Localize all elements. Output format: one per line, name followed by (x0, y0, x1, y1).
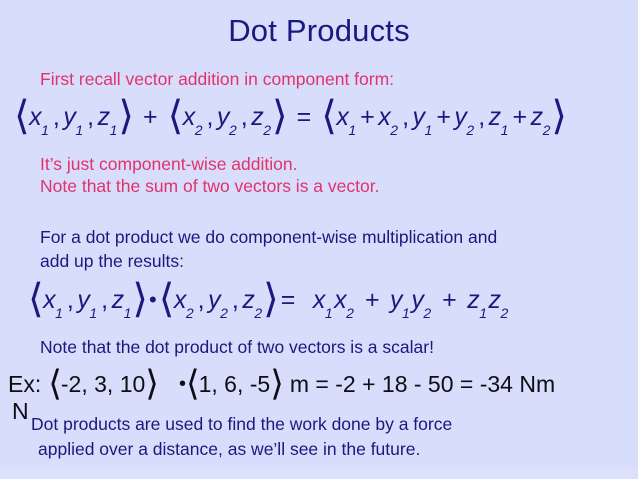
eq1-res-y2-sub: 2 (466, 122, 474, 138)
note-component-wise-addition: It’s just component-wise addition. (40, 153, 297, 175)
angle-open-icon: ⟨ (14, 94, 29, 138)
angle-open-icon: ⟨ (159, 277, 174, 321)
eq2-mid-x: x (173, 286, 187, 314)
eq2-comma-d: , (229, 286, 242, 314)
eq1-comma-c: , (204, 103, 217, 131)
vector-addition-equation: ⟨x1,y1,z1⟩+⟨x2,y2,z2⟩=⟨x1+x2,y1+y2,z1+z2… (14, 102, 566, 132)
angle-close-icon: ⟩ (118, 94, 133, 138)
example-calculation: Ex:⟨-2, 3, 10⟩•⟨1, 6, -5⟩m = -2 + 18 - 5… (8, 370, 555, 400)
note-dot-product-is-scalar: Note that the dot product of two vectors… (40, 336, 434, 359)
angle-close-icon: ⟩ (263, 277, 278, 321)
eq1-res-z2: z (530, 103, 544, 131)
footer-band (0, 467, 638, 479)
eq2-res-z1-sub: 1 (479, 305, 487, 321)
eq1-res-plus-1: + (357, 103, 378, 131)
eq2-comma-c: , (195, 286, 208, 314)
eq1-mid-y: y (216, 103, 230, 131)
angle-open-icon: ⟨ (186, 364, 199, 403)
angle-close-icon: ⟩ (132, 277, 147, 321)
page-title: Dot Products (0, 14, 638, 48)
eq2-left-x-sub: 1 (55, 305, 63, 321)
eq2-left-z: z (111, 286, 125, 314)
eq2-res-plus-2: + (439, 286, 460, 314)
eq2-comma-a: , (64, 286, 77, 314)
eq2-mid-x-sub: 2 (186, 305, 194, 321)
eq2-mid-z-sub: 2 (254, 305, 262, 321)
angle-close-icon: ⟩ (145, 364, 158, 403)
eq1-res-x2-sub: 2 (390, 122, 398, 138)
eq1-comma-b: , (84, 103, 97, 131)
eq2-res-plus-1: + (362, 286, 383, 314)
eq2-res-x1-sub: 1 (325, 305, 333, 321)
angle-open-icon: ⟨ (48, 364, 61, 403)
eq1-mid-y-sub: 2 (229, 122, 237, 138)
closing-line-2: applied over a distance, as we’ll see in… (38, 437, 420, 461)
eq1-mid-z-sub: 2 (263, 122, 271, 138)
eq1-left-z: z (97, 103, 111, 131)
eq1-left-x-sub: 1 (41, 122, 49, 138)
dot-intro-line-1: For a dot product we do component-wise m… (40, 226, 497, 249)
eq1-comma-d: , (238, 103, 251, 131)
angle-close-icon: ⟩ (551, 94, 566, 138)
angle-open-icon: ⟨ (321, 94, 336, 138)
eq2-mid-y-sub: 2 (220, 305, 228, 321)
eq1-left-y-sub: 1 (75, 122, 83, 138)
eq1-mid-x-sub: 2 (195, 122, 203, 138)
example-vector-2: 1, 6, -5 (199, 371, 271, 397)
eq1-comma-f: , (475, 103, 488, 131)
eq1-res-z1: z (488, 103, 502, 131)
dot-operator-icon: • (179, 373, 186, 395)
eq2-res-y2-sub: 2 (423, 305, 431, 321)
eq2-left-z-sub: 1 (124, 305, 132, 321)
angle-close-icon: ⟩ (270, 364, 283, 403)
eq2-left-y-sub: 1 (89, 305, 97, 321)
closing-line-1: Dot products are used to find the work d… (31, 412, 452, 436)
eq1-comma-a: , (50, 103, 63, 131)
eq2-res-x1: x (312, 286, 326, 314)
eq1-res-y1: y (412, 103, 426, 131)
note-sum-is-vector: Note that the sum of two vectors is a ve… (40, 175, 379, 197)
eq1-equals-operator: = (294, 103, 315, 131)
eq1-mid-x: x (182, 103, 196, 131)
eq1-res-plus-2: + (433, 103, 454, 131)
dot-product-equation: ⟨x1,y1,z1⟩•⟨x2,y2,z2⟩=x1x2+y1y2+z1z2 (28, 285, 509, 316)
eq2-comma-b: , (98, 286, 111, 314)
orphan-newton-character: N (12, 400, 29, 423)
eq2-res-z2: z (488, 286, 502, 314)
slide-canvas: Dot Products First recall vector additio… (0, 0, 638, 479)
example-result: m = -2 + 18 - 50 = -34 Nm (290, 371, 555, 397)
eq1-res-z2-sub: 2 (543, 122, 551, 138)
eq1-res-y1-sub: 1 (425, 122, 433, 138)
example-label: Ex: (8, 371, 41, 397)
eq2-res-z2-sub: 2 (501, 305, 509, 321)
eq1-res-x1-sub: 1 (348, 122, 356, 138)
eq1-plus-operator: + (140, 103, 161, 131)
eq2-res-y1-sub: 1 (402, 305, 410, 321)
eq2-res-x2-sub: 2 (346, 305, 354, 321)
eq1-left-z-sub: 1 (110, 122, 118, 138)
eq1-comma-e: , (399, 103, 412, 131)
dot-operator-icon: • (147, 287, 159, 312)
eq2-equals-operator: = (278, 286, 299, 314)
angle-close-icon: ⟩ (272, 94, 287, 138)
angle-open-icon: ⟨ (28, 277, 43, 321)
example-vector-1: -2, 3, 10 (61, 371, 145, 397)
dot-intro-line-2: add up the results: (40, 250, 184, 273)
intro-prompt-text: First recall vector addition in componen… (40, 68, 394, 90)
eq1-res-plus-3: + (509, 103, 530, 131)
eq1-res-z1-sub: 1 (501, 122, 509, 138)
angle-open-icon: ⟨ (168, 94, 183, 138)
